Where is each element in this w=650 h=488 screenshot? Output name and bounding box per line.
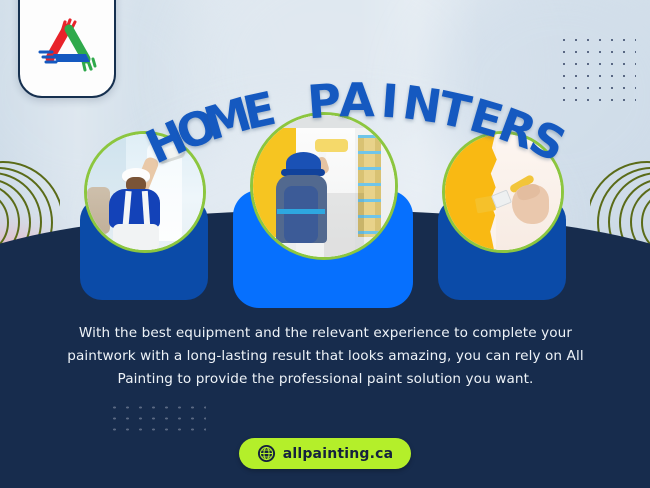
body-copy: With the best equipment and the relevant… <box>62 322 589 391</box>
website-cta-label: allpainting.ca <box>283 446 394 462</box>
page-title: HOME PAINTERS <box>148 28 568 106</box>
all-painting-logo <box>18 0 116 98</box>
poster-canvas: HOME PAINTERS With the best equipment an… <box>0 0 650 488</box>
globe-icon <box>257 444 276 463</box>
logo-mark-icon <box>36 14 102 76</box>
dot-grid-bottom-left <box>108 402 206 432</box>
website-cta-button[interactable]: allpainting.ca <box>239 438 411 469</box>
